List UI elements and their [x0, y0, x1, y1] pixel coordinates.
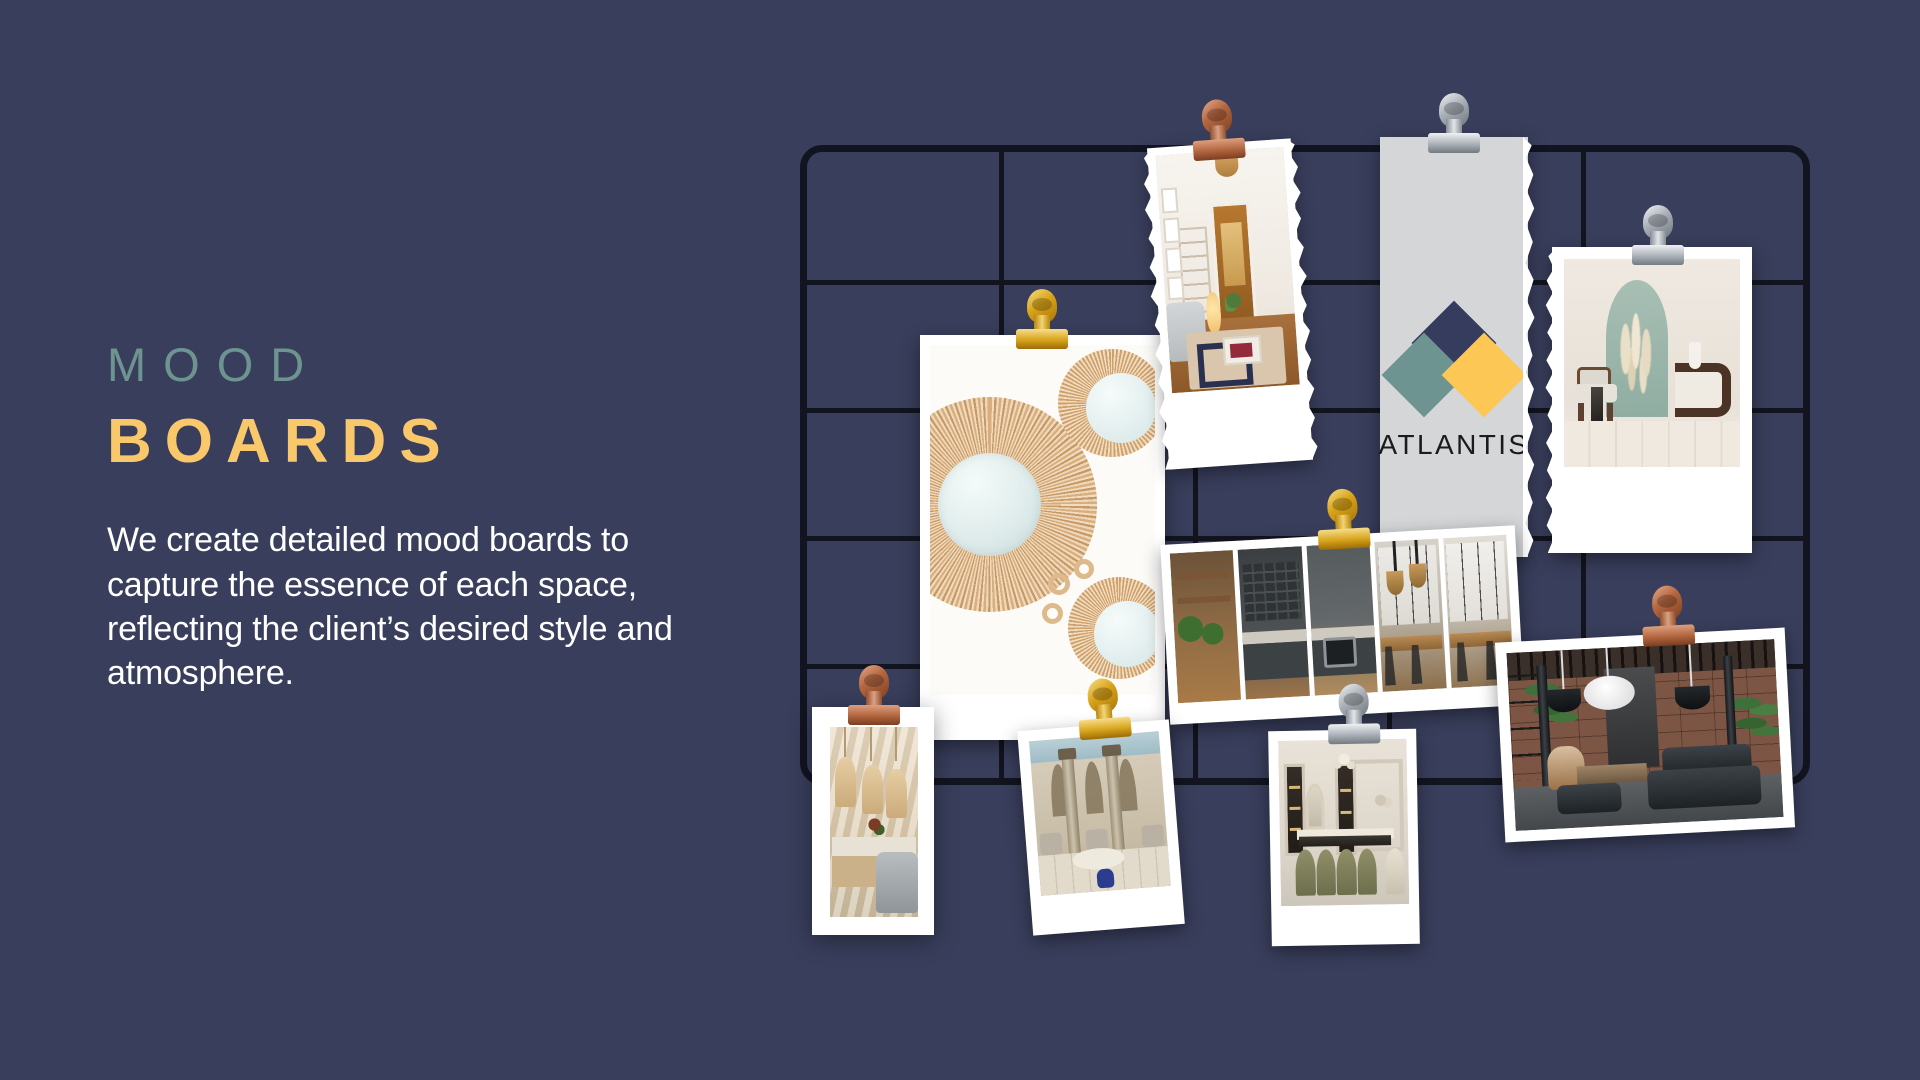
intro-text-block: MOOD BOARDS We create detailed mood boar…: [107, 340, 787, 695]
wooden-aframe-interior-photo: [830, 727, 918, 917]
card-moorish-courtyard[interactable]: [1017, 719, 1185, 935]
parisian-apartment-photo: [1155, 147, 1299, 393]
mood-board-stage: ATLANTIS: [780, 95, 1920, 1015]
card-neoclassical-dining[interactable]: [1268, 729, 1420, 947]
card-industrial-loft[interactable]: [1495, 628, 1795, 843]
card-sage-arch[interactable]: [1552, 247, 1752, 553]
page-description: We create detailed mood boards to captur…: [107, 518, 747, 695]
card-atlantis-logo-sheet[interactable]: ATLANTIS: [1380, 137, 1528, 557]
moorish-courtyard-photo: [1029, 731, 1171, 896]
page-kicker: MOOD: [107, 340, 787, 389]
card-parisian-apartment[interactable]: [1147, 138, 1313, 469]
atlantis-logo-icon: [1394, 313, 1514, 419]
card-panoramic-kitchen[interactable]: [1160, 525, 1524, 725]
brand-wordmark: ATLANTIS: [1379, 429, 1530, 461]
clip-silver-icon: [1428, 93, 1480, 155]
industrial-loft-photo: [1507, 639, 1784, 831]
card-aframe-stamp[interactable]: [812, 707, 934, 935]
rattan-sunburst-mirrors-photo: [930, 345, 1155, 695]
neoclassical-dining-photo: [1278, 739, 1409, 906]
card-rattan-mirrors[interactable]: [920, 335, 1165, 740]
page-title: BOARDS: [107, 411, 787, 473]
panoramic-kitchen-photo: [1170, 535, 1515, 704]
sage-arch-pampas-photo: [1564, 259, 1740, 467]
